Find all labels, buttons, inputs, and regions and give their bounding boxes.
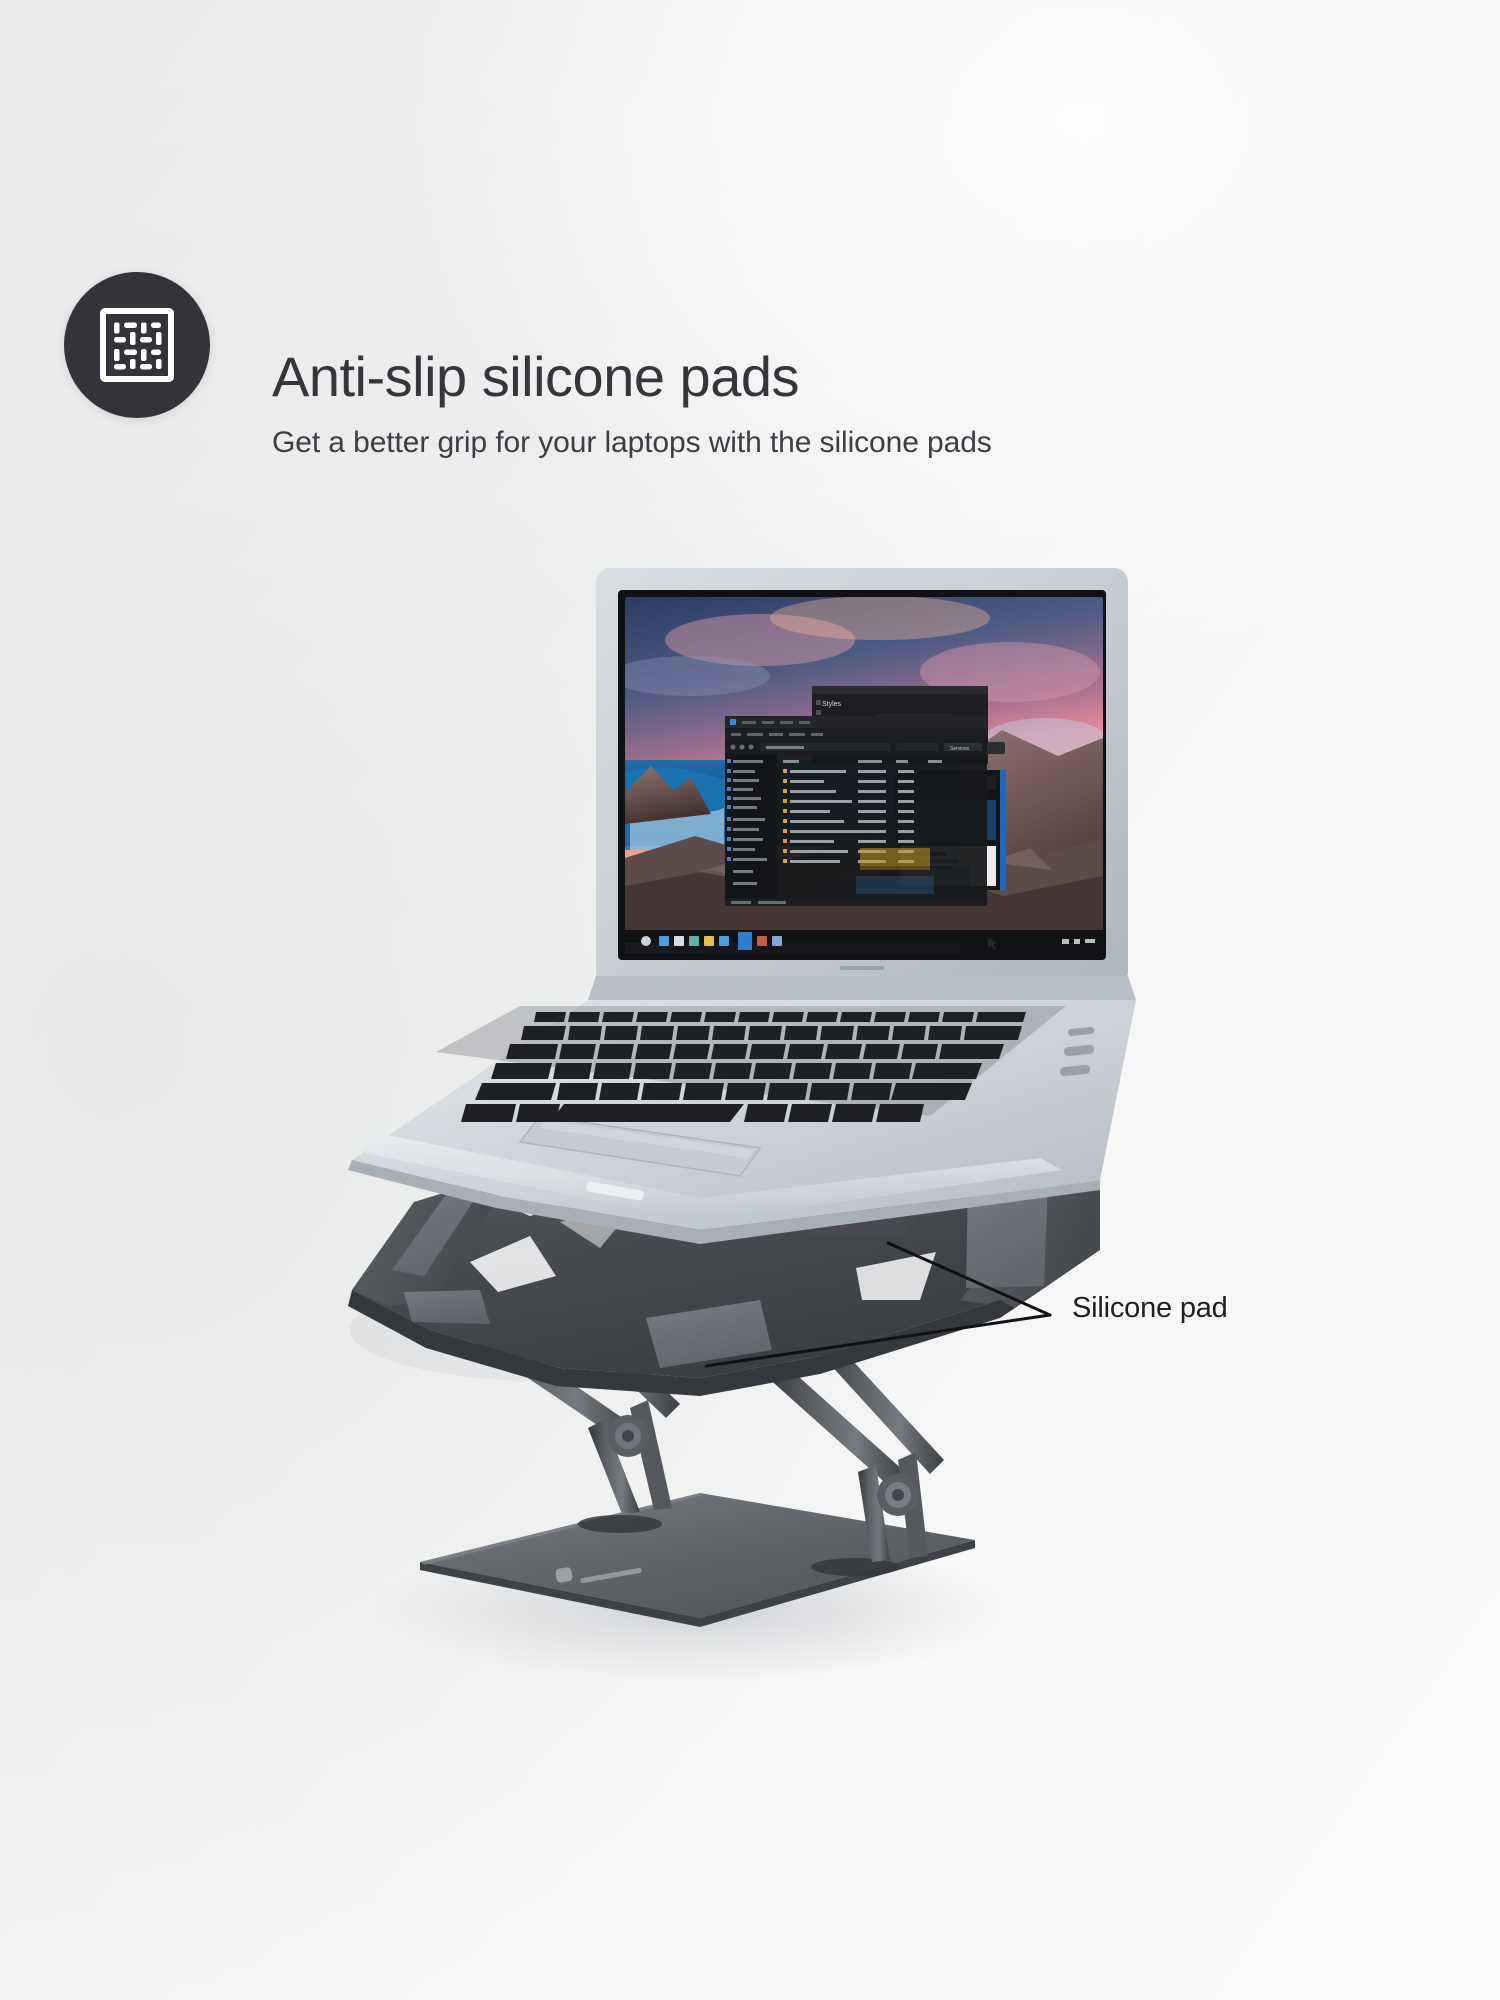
hinge-knob-left	[607, 1415, 649, 1457]
product-scene: Styles Run visuals	[0, 0, 1500, 2000]
base-slot-right	[811, 1558, 899, 1576]
laptop-screen: Styles Run visuals	[610, 596, 1111, 953]
laptop-hinge	[588, 976, 1136, 1000]
product-feature-page: Anti-slip silicone pads Get a better gri…	[0, 0, 1500, 2000]
windows-taskbar	[625, 930, 1103, 953]
screen-brand	[840, 966, 884, 970]
silicone-pad-left-lip	[404, 1290, 490, 1324]
file-explorer-window: Services	[725, 716, 987, 906]
callout-label-silicone-pad: Silicone pad	[1072, 1292, 1228, 1325]
hinge-knob-right	[877, 1474, 919, 1516]
svg-text:Styles: Styles	[822, 701, 842, 708]
svg-text:Services: Services	[950, 746, 970, 752]
product-illustration: Styles Run visuals	[0, 0, 1500, 2000]
silver-laptop: Styles Run visuals	[348, 566, 1136, 1244]
base-slot-left	[578, 1515, 662, 1533]
